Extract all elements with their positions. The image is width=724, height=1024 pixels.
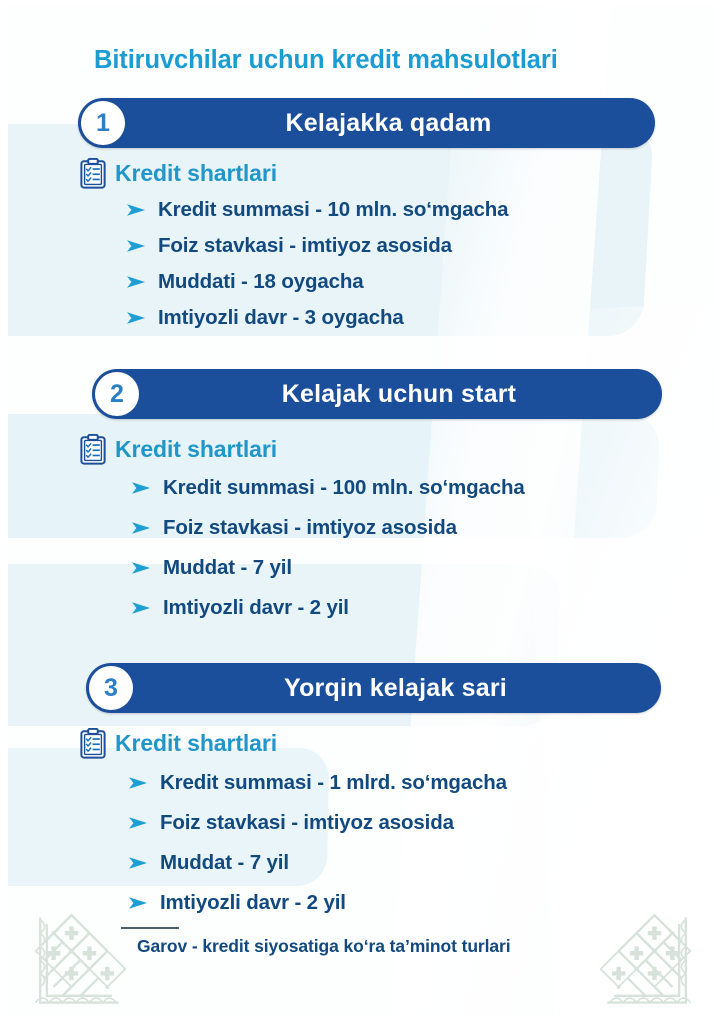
footnote-text: Garov - kredit siyosatiga ko‘ra ta’minot… <box>137 936 511 957</box>
list-item: Imtiyozli davr - 3 oygacha <box>126 306 508 330</box>
conditions-heading-2: Kredit shartlari <box>80 434 277 465</box>
list-item-text: Kredit summasi - 100 mln. so‘mgacha <box>163 476 525 500</box>
conditions-label-3: Kredit shartlari <box>115 730 277 757</box>
list-item-text: Foiz stavkasi - imtiyoz asosida <box>158 234 452 258</box>
arrow-right-triangle-icon <box>128 816 148 830</box>
list-item: Muddat - 7 yil <box>131 556 525 580</box>
paper-sheet: Bitiruvchilar uchun kredit mahsulotlari … <box>8 6 716 1016</box>
list-item-text: Foiz stavkasi - imtiyoz asosida <box>163 516 457 540</box>
section-number-badge-1: 1 <box>81 101 125 145</box>
conditions-heading-1: Kredit shartlari <box>80 158 277 189</box>
geometric-corner-ornament-icon <box>20 904 132 1016</box>
arrow-right-triangle-icon <box>128 856 148 870</box>
list-item: Imtiyozli davr - 2 yil <box>131 596 525 620</box>
list-item-text: Imtiyozli davr - 2 yil <box>160 891 346 915</box>
arrow-right-triangle-icon <box>126 239 146 253</box>
section-number-badge-3: 3 <box>89 666 133 710</box>
section-header-bar-3[interactable]: 3 Yorqin kelajak sari <box>86 663 661 713</box>
section-title-1: Kelajakka qadam <box>132 98 645 148</box>
arrow-right-triangle-icon <box>131 561 151 575</box>
list-item-text: Muddat - 7 yil <box>160 851 289 875</box>
section-title-2: Kelajak uchun start <box>146 369 652 419</box>
arrow-right-triangle-icon <box>128 776 148 790</box>
conditions-label-1: Kredit shartlari <box>115 160 277 187</box>
list-item-text: Kredit summasi - 1 mlrd. so‘mgacha <box>160 771 507 795</box>
bullet-list-1: Kredit summasi - 10 mln. so‘mgacha Foiz … <box>126 198 508 342</box>
list-item: Kredit summasi - 10 mln. so‘mgacha <box>126 198 508 222</box>
list-item: Foiz stavkasi - imtiyoz asosida <box>128 811 507 835</box>
section-number-badge-2: 2 <box>95 372 139 416</box>
list-item-text: Kredit summasi - 10 mln. so‘mgacha <box>158 198 508 222</box>
clipboard-icon <box>80 728 106 759</box>
list-item-text: Muddati - 18 oygacha <box>158 270 363 294</box>
clipboard-icon <box>80 158 106 189</box>
section-header-bar-2[interactable]: 2 Kelajak uchun start <box>92 369 662 419</box>
list-item: Foiz stavkasi - imtiyoz asosida <box>126 234 508 258</box>
list-item: Imtiyozli davr - 2 yil <box>128 891 507 915</box>
arrow-right-triangle-icon <box>126 275 146 289</box>
section-header-bar-1[interactable]: 1 Kelajakka qadam <box>78 98 655 148</box>
geometric-corner-ornament-icon <box>594 904 706 1016</box>
poster-page: Bitiruvchilar uchun kredit mahsulotlari … <box>0 0 724 1024</box>
bullet-list-2: Kredit summasi - 100 mln. so‘mgacha Foiz… <box>131 476 525 636</box>
list-item-text: Imtiyozli davr - 3 oygacha <box>158 306 404 330</box>
list-item: Kredit summasi - 1 mlrd. so‘mgacha <box>128 771 507 795</box>
arrow-right-triangle-icon <box>131 481 151 495</box>
poster-content: Bitiruvchilar uchun kredit mahsulotlari … <box>8 6 716 1016</box>
arrow-right-triangle-icon <box>126 203 146 217</box>
bullet-list-3: Kredit summasi - 1 mlrd. so‘mgacha Foiz … <box>128 771 507 931</box>
list-item: Muddati - 18 oygacha <box>126 270 508 294</box>
section-title-3: Yorqin kelajak sari <box>140 663 651 713</box>
clipboard-icon <box>80 434 106 465</box>
list-item-text: Foiz stavkasi - imtiyoz asosida <box>160 811 454 835</box>
page-title: Bitiruvchilar uchun kredit mahsulotlari <box>94 46 558 75</box>
arrow-right-triangle-icon <box>131 601 151 615</box>
arrow-right-triangle-icon <box>126 311 146 325</box>
list-item: Kredit summasi - 100 mln. so‘mgacha <box>131 476 525 500</box>
list-item-text: Muddat - 7 yil <box>163 556 292 580</box>
list-item: Muddat - 7 yil <box>128 851 507 875</box>
conditions-label-2: Kredit shartlari <box>115 436 277 463</box>
conditions-heading-3: Kredit shartlari <box>80 728 277 759</box>
list-item: Foiz stavkasi - imtiyoz asosida <box>131 516 525 540</box>
list-item-text: Imtiyozli davr - 2 yil <box>163 596 349 620</box>
arrow-right-triangle-icon <box>131 521 151 535</box>
